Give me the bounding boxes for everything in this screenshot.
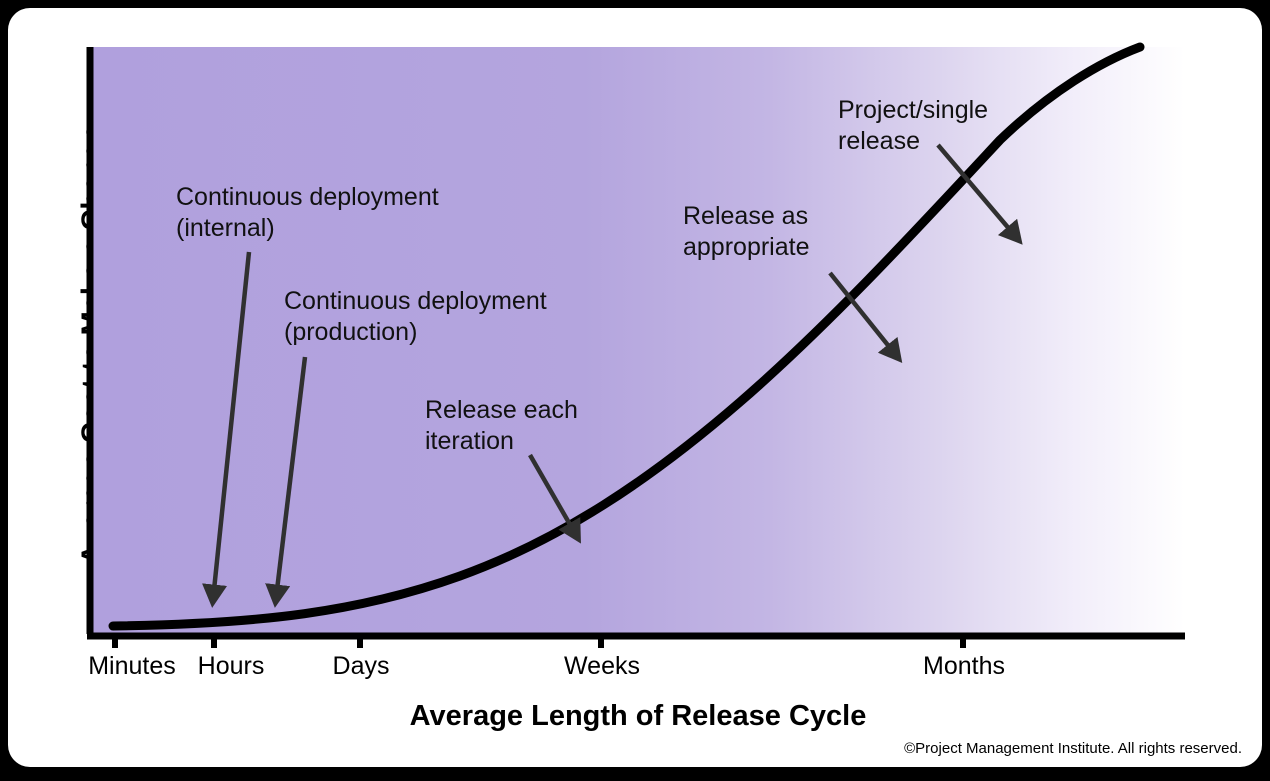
x-tick-label-months: Months — [923, 652, 1005, 681]
x-axis-title: Average Length of Release Cycle — [88, 700, 1188, 733]
x-tick-label-days: Days — [333, 652, 390, 681]
copyright-notice: ©Project Management Institute. All right… — [904, 740, 1242, 757]
annotation-release-as-appropriate: Release as appropriate — [683, 201, 809, 263]
annotation-release-each-iteration: Release each iteration — [425, 395, 578, 457]
x-tick-label-hours: Hours — [198, 652, 265, 681]
annotation-project-single-release: Project/single release — [838, 95, 988, 157]
x-tick-label-weeks: Weeks — [564, 652, 640, 681]
x-tick-label-minutes: Minutes — [88, 652, 176, 681]
annotation-continuous-deployment-production: Continuous deployment (production) — [284, 286, 547, 348]
plot-background — [92, 47, 1185, 633]
figure-stage: Average Cost to Make a Change — [0, 0, 1270, 781]
annotation-continuous-deployment-internal: Continuous deployment (internal) — [176, 182, 439, 244]
